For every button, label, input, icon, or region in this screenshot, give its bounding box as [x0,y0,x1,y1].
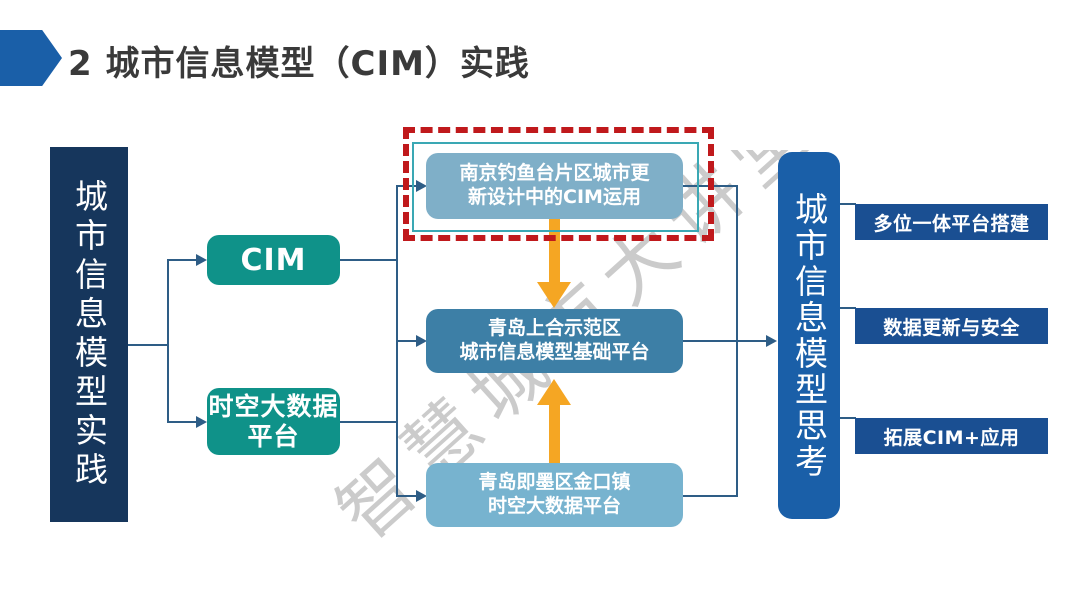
left-panel-bar: 城市信息模型实践 [50,147,128,522]
right-tag-platform-construction[interactable]: 多位一体平台搭建 [855,204,1048,240]
title-arrow-icon [0,30,62,86]
connector-case-shanghe-out [683,340,737,342]
case-jinkou-line2: 时空大数据平台 [478,495,630,519]
case-jinkou-line1: 青岛即墨区金口镇 [478,471,630,495]
connector-to-stbd [167,421,197,423]
case-shanghe-line2: 城市信息模型基础平台 [459,341,649,365]
arrow-into-right-panel-icon [766,335,777,347]
connector-leftbar-spine [167,259,169,423]
right-tag-label-1: 数据更新与安全 [883,313,1020,340]
right-panel-label: 城市信息模型思考 [793,192,826,480]
connector-to-cim [167,259,197,261]
connector-leftbar-stub [128,344,168,346]
arrow-to-stbd-icon [196,416,207,428]
right-tag-cim-plus-application[interactable]: 拓展CIM+应用 [855,418,1048,454]
connector-tag-1 [840,307,856,309]
connector-tag-0 [840,203,856,205]
pillar-box-spatiotemporal[interactable]: 时空大数据平台 [207,388,340,455]
orange-arrow-up-shaft [549,404,560,464]
connector-to-case-shanghe [396,340,418,342]
pillar-box-cim[interactable]: CIM [207,235,340,285]
arrow-to-cim-icon [196,254,207,266]
case-box-qingdao-jinkou[interactable]: 青岛即墨区金口镇 时空大数据平台 [426,463,683,527]
connector-cim-out [340,259,397,261]
right-tag-label-2: 拓展CIM+应用 [884,423,1020,450]
connector-case-jinkou-out [683,495,737,497]
connector-tag-2 [840,417,856,419]
case-box-qingdao-shanghe[interactable]: 青岛上合示范区 城市信息模型基础平台 [426,309,683,373]
right-panel-box: 城市信息模型思考 [778,152,840,519]
slide-canvas: 2 城市信息模型（CIM）实践 智慧城市大讲堂 城市信息模型实践 CIM 时空大… [0,0,1080,608]
page-title: 2 城市信息模型（CIM）实践 [68,36,530,85]
right-tag-data-update-security[interactable]: 数据更新与安全 [855,308,1048,344]
pillar-label-spatiotemporal: 时空大数据平台 [207,392,340,451]
connector-stbd-out [340,421,397,423]
right-tag-label-0: 多位一体平台搭建 [873,209,1029,236]
case-highlight-dashed-border [403,127,714,241]
orange-arrow-up-head-icon [537,379,571,405]
pillar-label-cim: CIM [240,243,306,278]
connector-into-right-panel [736,340,768,342]
orange-arrow-down-head-icon [537,282,571,308]
left-panel-label: 城市信息模型实践 [73,179,106,491]
case-shanghe-line1: 青岛上合示范区 [459,317,649,341]
connector-to-case-jinkou [396,495,418,497]
